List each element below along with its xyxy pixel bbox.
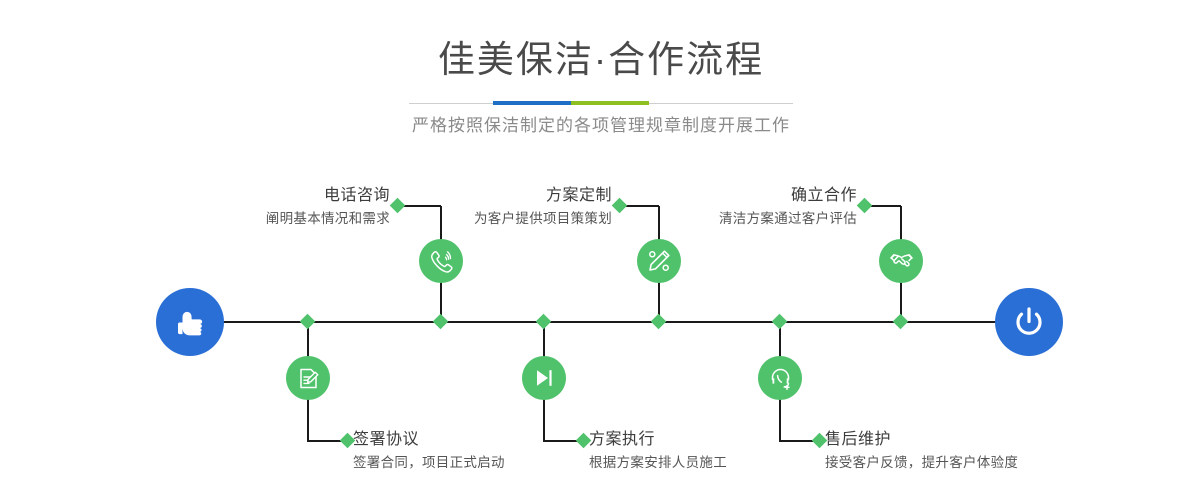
- step-title-3: 方案定制: [372, 186, 612, 206]
- phone-ringing-icon: [428, 248, 454, 274]
- step-label-4: 方案执行 根据方案安排人员施工: [589, 430, 849, 472]
- timeline: 电话咨询 阐明基本情况和需求 签署协议 签署合同，项目正式启动: [0, 0, 1202, 502]
- axis-diamond-6: [772, 314, 788, 330]
- pencil-compass-icon: [646, 248, 672, 274]
- step-title-5: 确立合作: [617, 186, 857, 206]
- step-node-3[interactable]: [637, 239, 681, 283]
- process-flow-infographic: 佳美保洁·合作流程 严格按照保洁制定的各项管理规章制度开展工作: [0, 0, 1202, 502]
- step-node-6[interactable]: [758, 356, 802, 400]
- step-title-6: 售后维护: [825, 430, 1105, 450]
- step-desc-4: 根据方案安排人员施工: [589, 453, 849, 472]
- step-desc-5: 清洁方案通过客户评估: [617, 209, 857, 228]
- pointing-hand-icon: [172, 304, 208, 340]
- step-node-4[interactable]: [522, 356, 566, 400]
- customer-service-icon: [768, 366, 793, 391]
- step-node-1[interactable]: [419, 239, 463, 283]
- step-node-5[interactable]: [879, 239, 923, 283]
- step-desc-1: 阐明基本情况和需求: [150, 209, 390, 228]
- step-label-2: 签署协议 签署合同，项目正式启动: [353, 430, 613, 472]
- timeline-start-node: [156, 288, 224, 356]
- step-desc-2: 签署合同，项目正式启动: [353, 453, 613, 472]
- step-title-1: 电话咨询: [150, 186, 390, 206]
- power-icon: [1010, 303, 1048, 341]
- document-edit-icon: [296, 366, 321, 391]
- axis-diamond-2: [300, 314, 316, 330]
- step-node-2[interactable]: [286, 356, 330, 400]
- timeline-end-node: [995, 288, 1063, 356]
- step-label-5: 确立合作 清洁方案通过客户评估: [617, 186, 857, 228]
- step-desc-6: 接受客户反馈，提升客户体验度: [825, 453, 1105, 472]
- step-desc-3: 为客户提供项目策策划: [372, 209, 612, 228]
- play-execute-icon: [532, 366, 556, 390]
- step-label-1: 电话咨询 阐明基本情况和需求: [150, 186, 390, 228]
- axis-diamond-3: [651, 314, 667, 330]
- axis-diamond-4: [536, 314, 552, 330]
- step-connector-dot-5: [857, 198, 873, 214]
- handshake-icon: [888, 248, 915, 275]
- axis-diamond-1: [433, 314, 449, 330]
- axis-diamond-5: [893, 314, 909, 330]
- step-label-6: 售后维护 接受客户反馈，提升客户体验度: [825, 430, 1105, 472]
- step-label-3: 方案定制 为客户提供项目策策划: [372, 186, 612, 228]
